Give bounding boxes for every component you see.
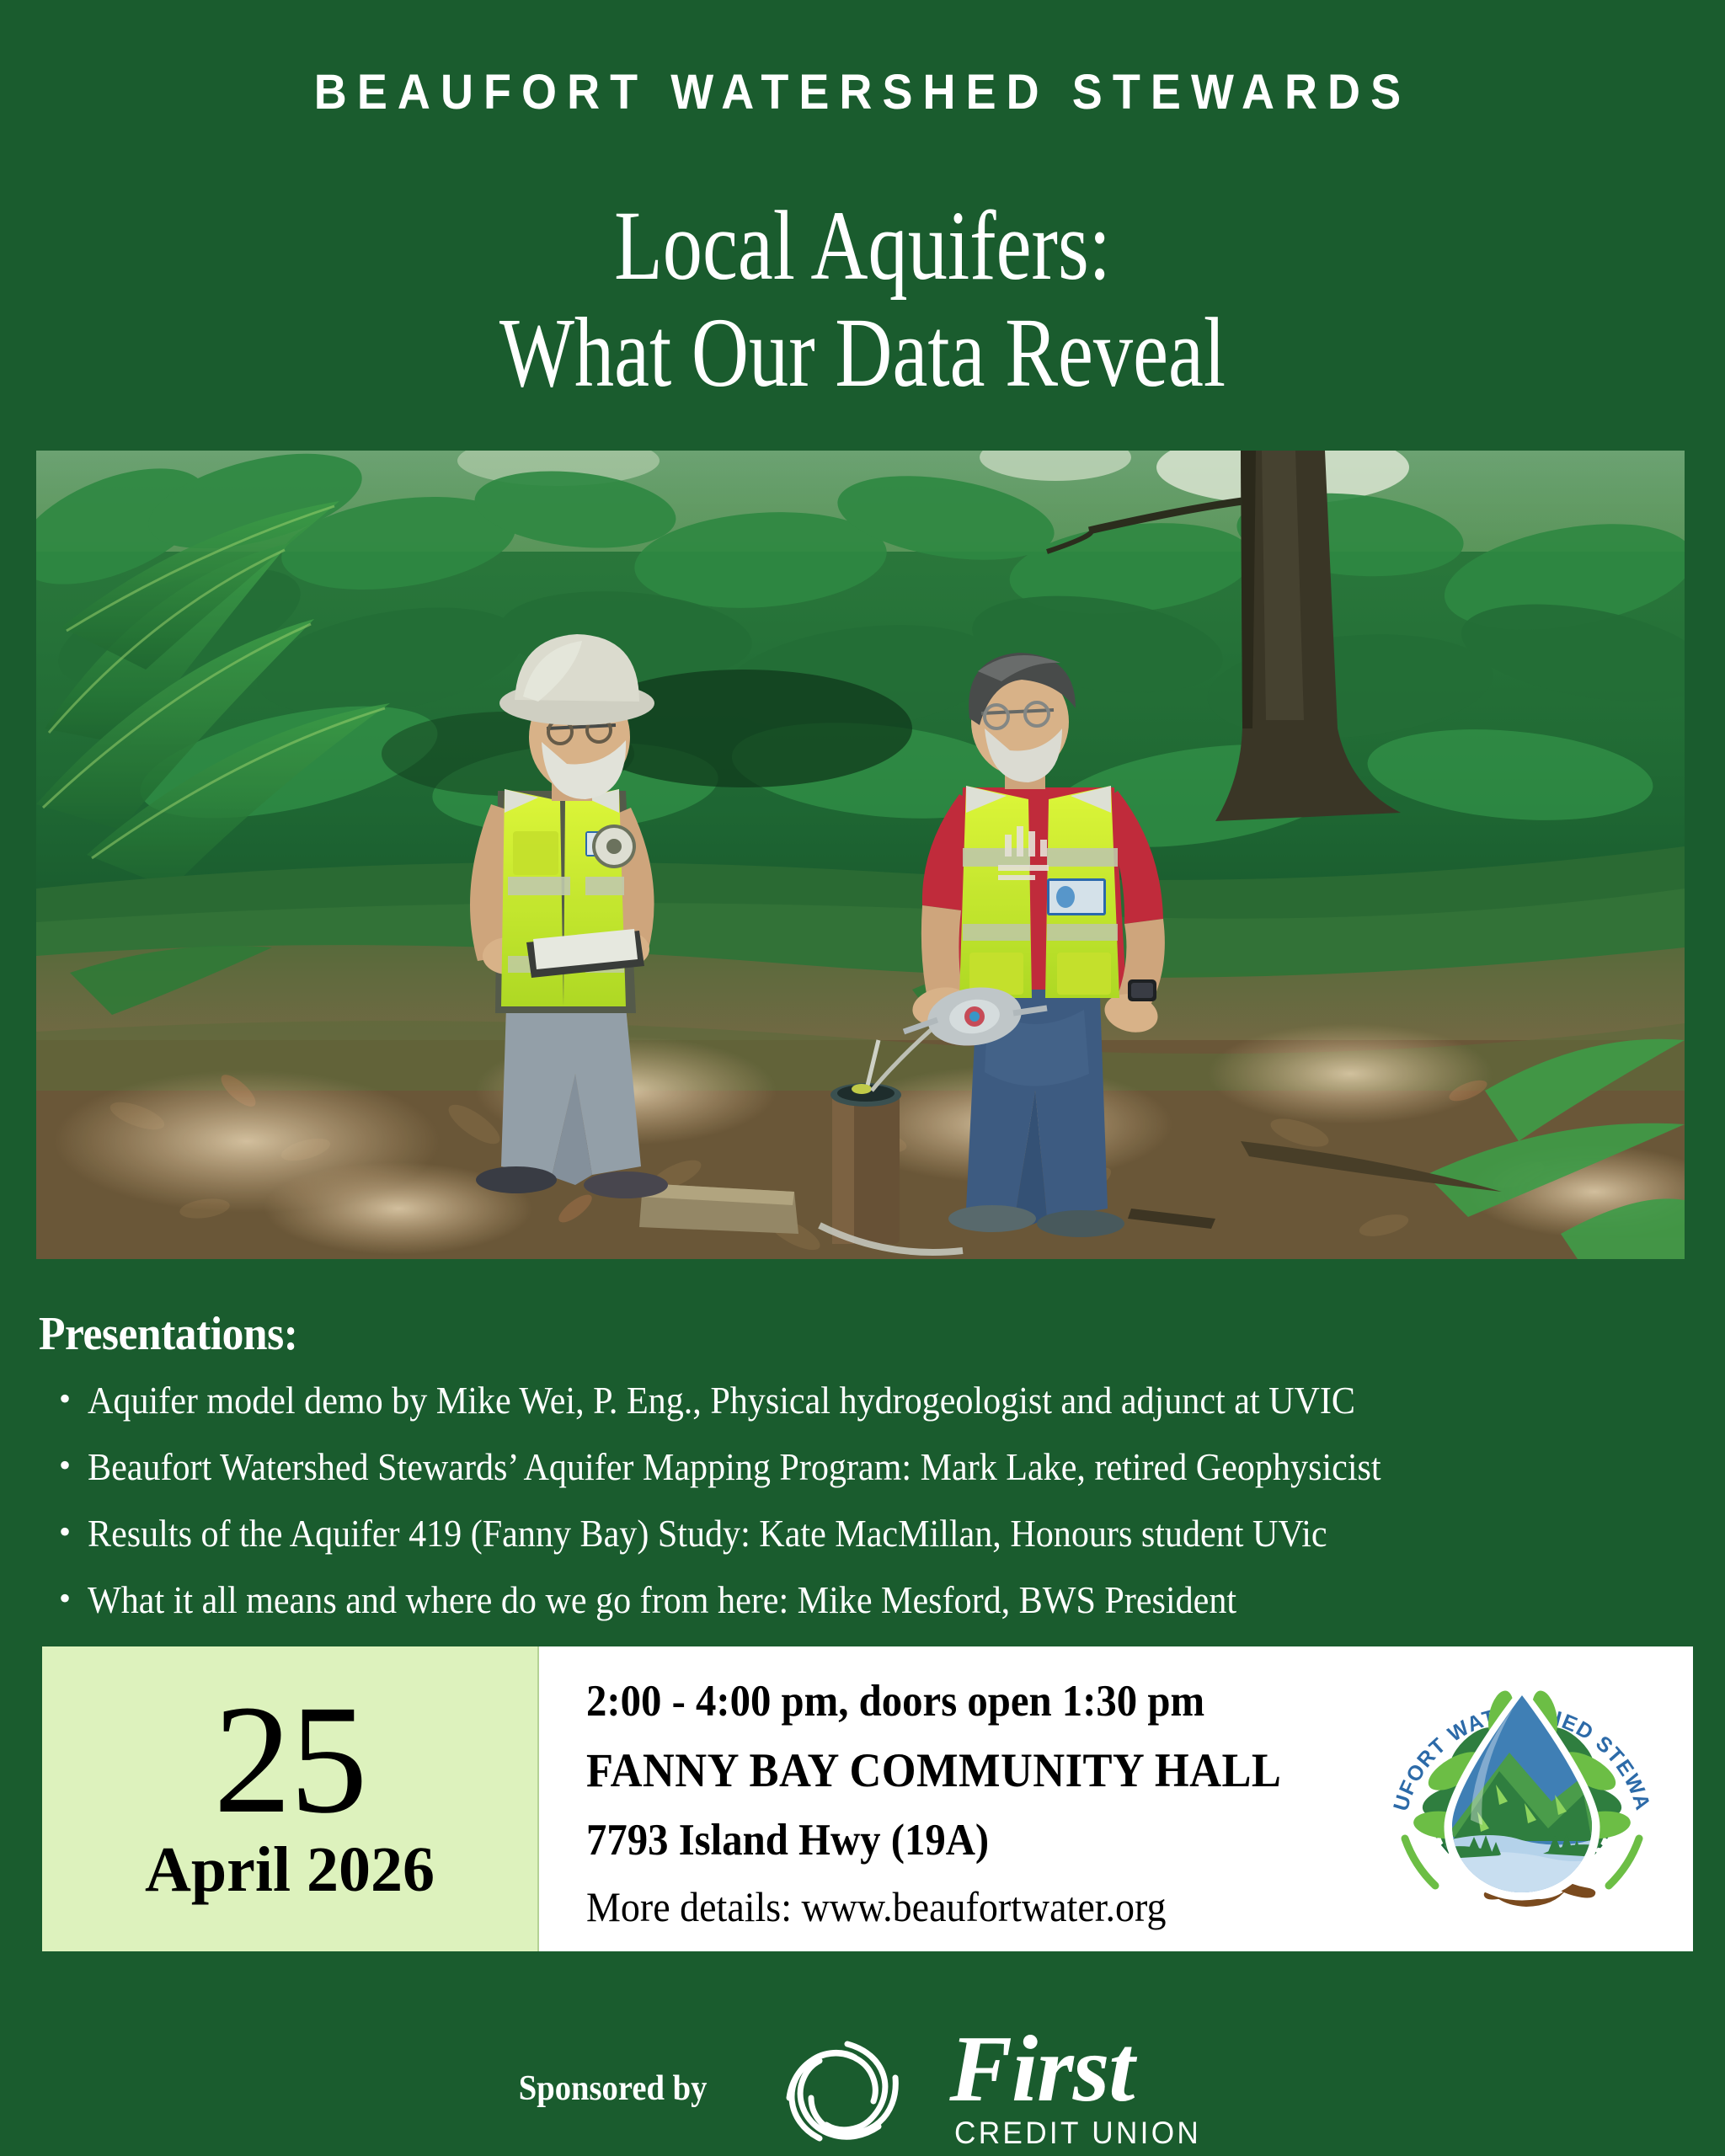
bullet-icon: • <box>59 1381 88 1417</box>
fcu-subtitle: CREDIT UNION <box>954 2116 1201 2151</box>
page-title-line-2: What Our Data Reveal <box>173 299 1552 406</box>
event-date-day: 25 <box>214 1689 366 1832</box>
page-title: Local Aquifers: What Our Data Reveal <box>173 192 1552 407</box>
bullet-icon: • <box>59 1448 88 1483</box>
presentation-text: What it all means and where do we go fro… <box>88 1581 1236 1620</box>
event-photo <box>36 451 1685 1259</box>
first-credit-union-logo: First CREDIT UNION <box>759 2025 1215 2152</box>
sponsored-by-label: Sponsored by <box>519 2068 708 2109</box>
event-website[interactable]: More details: www.beaufortwater.org <box>586 1882 1302 1931</box>
arc-right-decoration <box>1609 1838 1639 1886</box>
presentations-list: • Aquifer model demo by Mike Wei, P. Eng… <box>59 1381 1710 1647</box>
sponsor-row: Sponsored by First CREDIT UNION <box>0 2025 1725 2152</box>
arc-left-decoration <box>1405 1838 1435 1886</box>
presentation-text: Results of the Aquifer 419 (Fanny Bay) S… <box>88 1514 1327 1553</box>
list-item: • Results of the Aquifer 419 (Fanny Bay)… <box>59 1514 1710 1553</box>
event-time: 2:00 - 4:00 pm, doors open 1:30 pm <box>586 1676 1302 1726</box>
presentation-text: Beaufort Watershed Stewards’ Aquifer Map… <box>88 1448 1381 1486</box>
list-item: • Beaufort Watershed Stewards’ Aquifer M… <box>59 1448 1710 1486</box>
bullet-icon: • <box>59 1581 88 1616</box>
list-item: • What it all means and where do we go f… <box>59 1581 1710 1620</box>
event-date-month-year: April 2026 <box>145 1837 435 1904</box>
fcu-swirl-icon <box>759 2025 936 2152</box>
event-details-panel: 2:00 - 4:00 pm, doors open 1:30 pm FANNY… <box>539 1646 1365 1951</box>
event-date-panel: 25 April 2026 <box>42 1646 539 1951</box>
list-item: • Aquifer model demo by Mike Wei, P. Eng… <box>59 1381 1710 1420</box>
event-address: 7793 Island Hwy (19A) <box>586 1815 1302 1865</box>
presentation-text: Aquifer model demo by Mike Wei, P. Eng.,… <box>88 1381 1355 1420</box>
photo-illustration <box>36 451 1685 1259</box>
poster-root: BEAUFORT WATERSHED STEWARDS Local Aquife… <box>0 0 1725 2156</box>
bws-logo-svg: BEAUFORT WATERSHED STEWARDS EVERY DROP C… <box>1383 1660 1661 1938</box>
bws-logo: BEAUFORT WATERSHED STEWARDS EVERY DROP C… <box>1365 1646 1693 1951</box>
presentations-heading: Presentations: <box>39 1307 297 1361</box>
event-venue: FANNY BAY COMMUNITY HALL <box>586 1743 1302 1798</box>
page-title-line-1: Local Aquifers: <box>173 192 1552 299</box>
event-info-box: 25 April 2026 2:00 - 4:00 pm, doors open… <box>42 1646 1693 1951</box>
bullet-icon: • <box>59 1514 88 1550</box>
organization-header: BEAUFORT WATERSHED STEWARDS <box>61 64 1665 120</box>
fcu-wordmark: First <box>949 2026 1134 2113</box>
